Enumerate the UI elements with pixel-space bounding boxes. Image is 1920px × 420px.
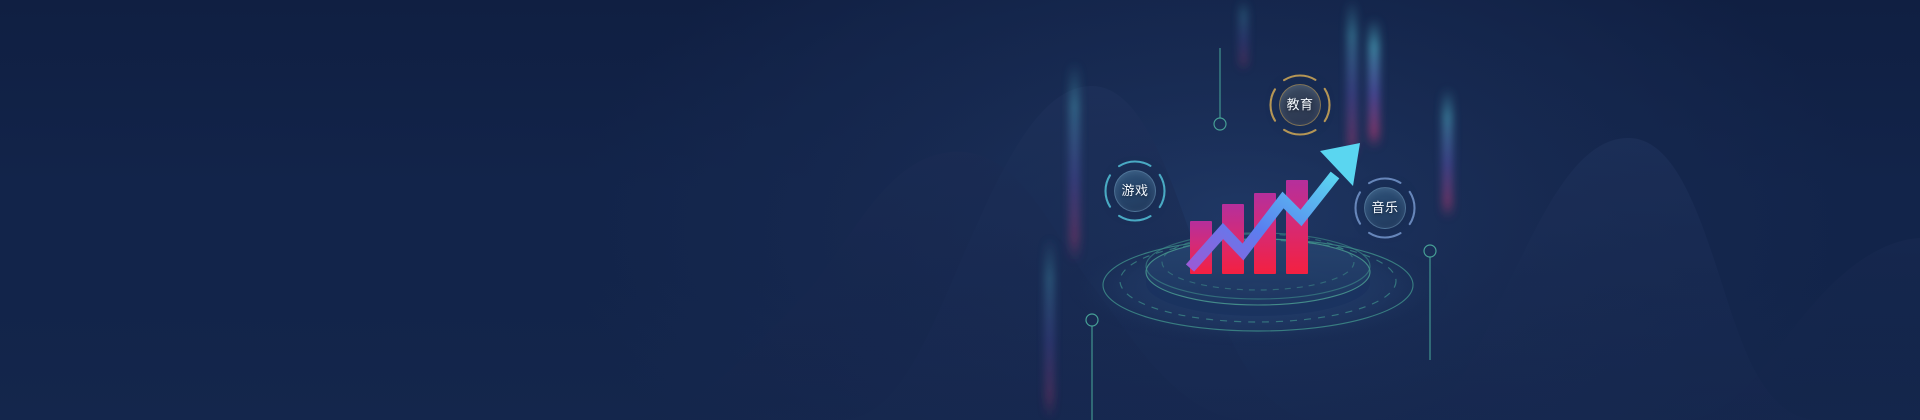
growth-chart (0, 0, 1920, 420)
badge-education[interactable]: 教育 (1268, 73, 1332, 137)
data-growth-banner: 游戏 教育 音乐 (0, 0, 1920, 420)
badge-games-label: 游戏 (1121, 185, 1148, 198)
badge-music-label: 音乐 (1371, 202, 1398, 215)
badge-music-disc: 音乐 (1364, 187, 1406, 229)
chart-bar-4 (1286, 180, 1308, 274)
badge-games-disc: 游戏 (1114, 170, 1156, 212)
badge-games[interactable]: 游戏 (1103, 159, 1167, 223)
badge-education-label: 教育 (1286, 99, 1313, 112)
badge-education-disc: 教育 (1279, 84, 1321, 126)
chart-bars (1190, 180, 1308, 274)
badge-music[interactable]: 音乐 (1353, 176, 1417, 240)
